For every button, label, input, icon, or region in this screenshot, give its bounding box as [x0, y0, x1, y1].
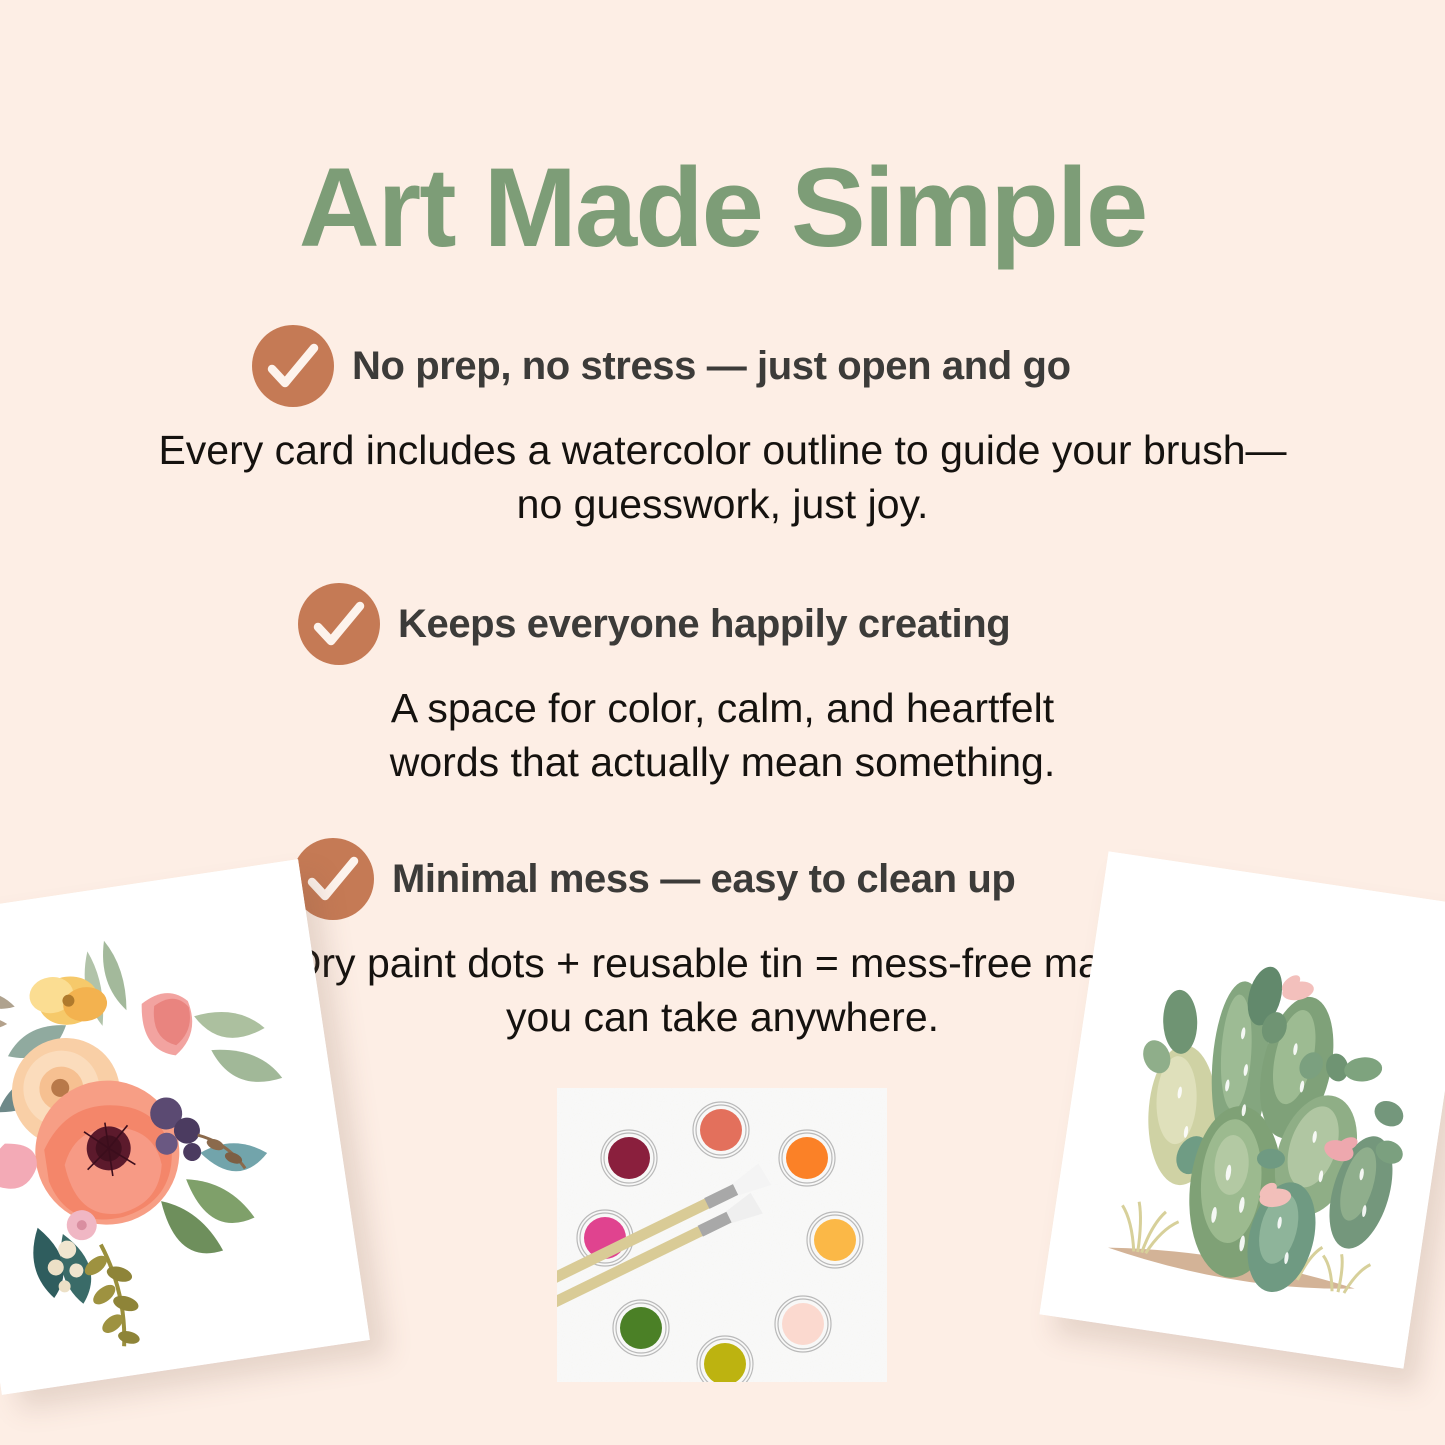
benefit-heading-text: No prep, no stress — just open and go	[352, 344, 1071, 389]
benefit-heading-row: Keeps everyone happily creating	[0, 583, 1445, 665]
benefit-body-line1: A space for color, calm, and heartfelt	[250, 681, 1195, 735]
benefit-body-line2: no guesswork, just joy.	[90, 477, 1355, 531]
check-icon	[298, 583, 380, 665]
cactus-card-image	[1039, 851, 1445, 1368]
benefit-heading-text: Minimal mess — easy to clean up	[392, 857, 1015, 902]
check-icon	[252, 325, 334, 407]
promo-graphic: Art Made Simple No prep, no stress — jus…	[0, 0, 1445, 1445]
paint-palette-image	[557, 1088, 887, 1382]
benefit-body-line2: words that actually mean something.	[250, 735, 1195, 789]
benefit-body-line1: Every card includes a watercolor outline…	[90, 423, 1355, 477]
benefit-heading-text: Keeps everyone happily creating	[398, 602, 1010, 647]
benefit-item-happily-creating: Keeps everyone happily creating A space …	[0, 583, 1445, 789]
benefit-item-no-prep: No prep, no stress — just open and go Ev…	[0, 325, 1445, 531]
benefit-body: Every card includes a watercolor outline…	[0, 423, 1445, 531]
benefit-body: A space for color, calm, and heartfelt w…	[0, 681, 1445, 789]
page-title: Art Made Simple	[0, 152, 1445, 264]
benefit-heading-row: No prep, no stress — just open and go	[0, 325, 1445, 407]
